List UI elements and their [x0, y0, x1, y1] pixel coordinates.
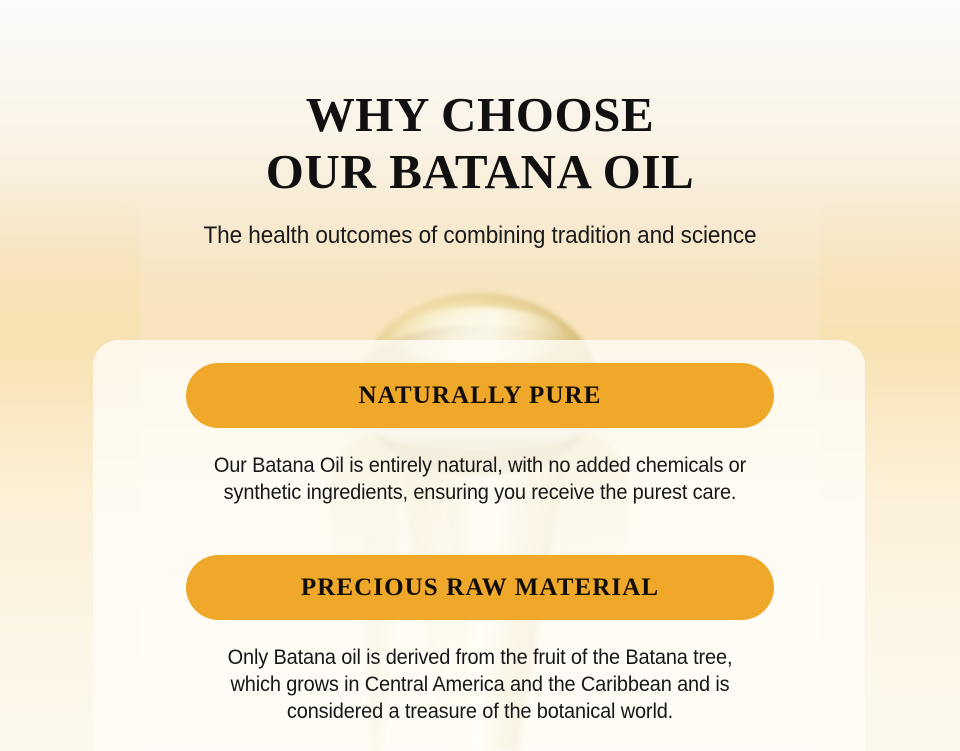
- feature-body-line: synthetic ingredients, ensuring you rece…: [24, 479, 936, 506]
- feature-pill-precious-raw-material[interactable]: PRECIOUS RAW MATERIAL: [186, 555, 774, 620]
- feature-body-line: considered a treasure of the botanical w…: [24, 698, 936, 725]
- headline-line-1: WHY CHOOSE: [0, 86, 960, 143]
- page-subtitle: The health outcomes of combining traditi…: [29, 221, 931, 251]
- feature-body-line: Only Batana oil is derived from the frui…: [24, 644, 936, 671]
- feature-block-precious-raw-material: PRECIOUS RAW MATERIAL Only Batana oil is…: [0, 555, 960, 725]
- feature-body-naturally-pure: Our Batana Oil is entirely natural, with…: [24, 452, 936, 506]
- page-title: WHY CHOOSE OUR BATANA OIL: [0, 86, 960, 200]
- feature-pill-label: PRECIOUS RAW MATERIAL: [301, 574, 659, 602]
- promo-page: WHY CHOOSE OUR BATANA OIL The health out…: [0, 0, 960, 751]
- header-block: WHY CHOOSE OUR BATANA OIL The health out…: [0, 0, 960, 251]
- feature-body-line: Our Batana Oil is entirely natural, with…: [24, 452, 936, 479]
- feature-body-precious-raw-material: Only Batana oil is derived from the frui…: [24, 644, 936, 725]
- feature-pill-naturally-pure[interactable]: NATURALLY PURE: [186, 363, 774, 428]
- feature-block-naturally-pure: NATURALLY PURE Our Batana Oil is entirel…: [0, 363, 960, 506]
- headline-line-2: OUR BATANA OIL: [0, 143, 960, 200]
- feature-pill-label: NATURALLY PURE: [359, 382, 602, 410]
- feature-body-line: which grows in Central America and the C…: [24, 671, 936, 698]
